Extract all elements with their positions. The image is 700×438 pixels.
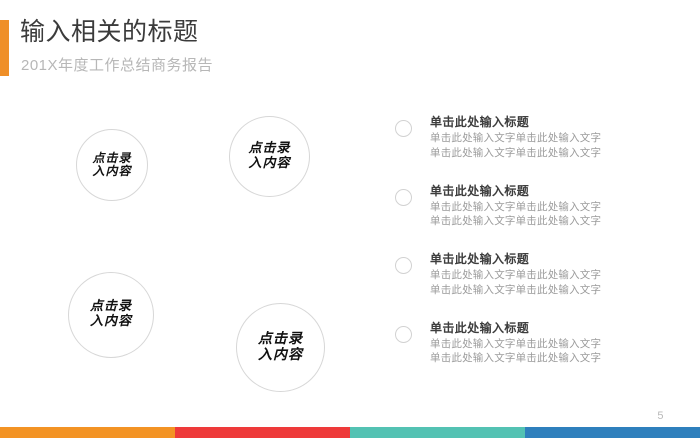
circle-outline-icon [395,189,412,206]
bullet-item-4-body: 单击此处输入标题 单击此处输入文字单击此处输入文字 单击此处输入文字单击此处输入… [430,319,640,366]
footer-segment-red [175,427,350,438]
bullet-item-3[interactable]: 单击此处输入标题 单击此处输入文字单击此处输入文字 单击此处输入文字单击此处输入… [390,250,640,319]
bubble-1-label: 点击录 入内容 [92,152,131,179]
bullet-list: 单击此处输入标题 单击此处输入文字单击此处输入文字 单击此处输入文字单击此处输入… [390,113,640,387]
bullet-item-4[interactable]: 单击此处输入标题 单击此处输入文字单击此处输入文字 单击此处输入文字单击此处输入… [390,319,640,388]
bullet-item-1-heading: 单击此处输入标题 [430,113,640,131]
bullet-item-1[interactable]: 单击此处输入标题 单击此处输入文字单击此处输入文字 单击此处输入文字单击此处输入… [390,113,640,182]
bullet-item-3-line2: 单击此处输入文字单击此处输入文字 [430,283,640,298]
circle-outline-icon [395,120,412,137]
footer-segment-teal [350,427,525,438]
bubble-4[interactable]: 点击录 入内容 [236,303,325,392]
bullet-item-2-line2: 单击此处输入文字单击此处输入文字 [430,214,640,229]
bubble-1[interactable]: 点击录 入内容 [76,129,148,201]
page-number: 5 [657,410,664,422]
footer-color-bar [0,427,700,438]
bullet-item-2-heading: 单击此处输入标题 [430,182,640,200]
bullet-item-3-line1: 单击此处输入文字单击此处输入文字 [430,268,640,283]
circle-outline-icon [395,257,412,274]
bullet-item-2-body: 单击此处输入标题 单击此处输入文字单击此处输入文字 单击此处输入文字单击此处输入… [430,182,640,229]
circle-outline-icon [395,326,412,343]
bubble-2-label: 点击录 入内容 [248,142,290,171]
footer-segment-blue [525,427,700,438]
bullet-item-3-heading: 单击此处输入标题 [430,250,640,268]
footer-segment-orange [0,427,175,438]
bullet-item-2-line1: 单击此处输入文字单击此处输入文字 [430,200,640,215]
bullet-item-4-heading: 单击此处输入标题 [430,319,640,337]
slide-canvas: 输入相关的标题 201X年度工作总结商务报告 点击录 入内容 点击录 入内容 点… [0,0,700,438]
page-subtitle: 201X年度工作总结商务报告 [21,55,213,76]
bullet-item-2[interactable]: 单击此处输入标题 单击此处输入文字单击此处输入文字 单击此处输入文字单击此处输入… [390,182,640,251]
page-title: 输入相关的标题 [20,16,199,48]
bubble-3-label: 点击录 入内容 [90,300,132,329]
bullet-item-4-line1: 单击此处输入文字单击此处输入文字 [430,337,640,352]
bullet-item-1-line2: 单击此处输入文字单击此处输入文字 [430,146,640,161]
header-accent-bar [0,20,9,76]
bullet-item-1-line1: 单击此处输入文字单击此处输入文字 [430,131,640,146]
bullet-item-3-body: 单击此处输入标题 单击此处输入文字单击此处输入文字 单击此处输入文字单击此处输入… [430,250,640,297]
bubble-4-label: 点击录 入内容 [258,332,303,363]
bubble-2[interactable]: 点击录 入内容 [229,116,310,197]
bullet-item-1-body: 单击此处输入标题 单击此处输入文字单击此处输入文字 单击此处输入文字单击此处输入… [430,113,640,160]
bubble-3[interactable]: 点击录 入内容 [68,272,154,358]
bullet-item-4-line2: 单击此处输入文字单击此处输入文字 [430,351,640,366]
